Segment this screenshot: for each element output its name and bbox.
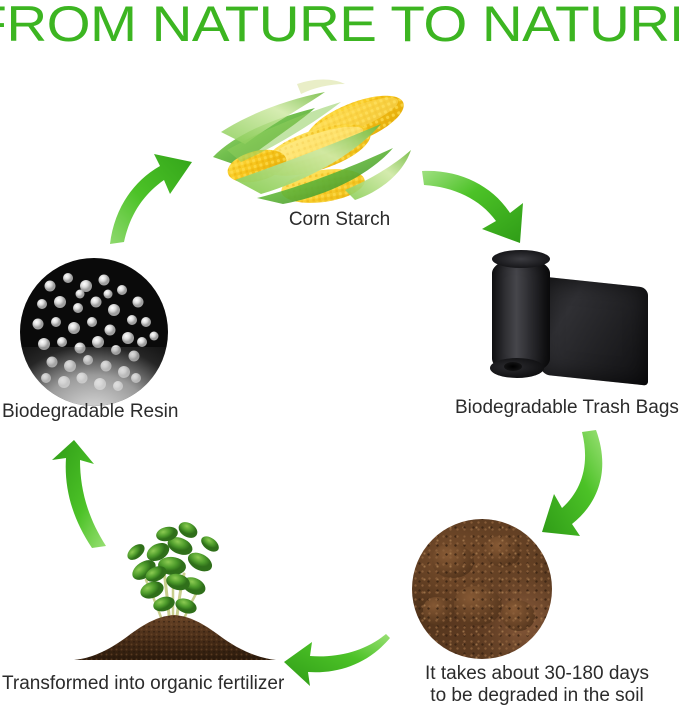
label-degrading-line1: It takes about 30-180 days [395,662,679,686]
label-trash-bags: Biodegradable Trash Bags [455,396,679,420]
curved-arrow-icon [108,152,203,247]
bag-unrolled-sheet [540,276,648,385]
label-biodegradable-resin: Biodegradable Resin [2,400,178,424]
bag-roll-top [492,250,550,268]
curved-arrow-icon [282,634,392,688]
label-organic-fertilizer: Transformed into organic fertilizer [2,672,284,696]
corn-cobs-image [205,62,420,207]
resin-pellets-image [20,258,168,406]
arrow-soil-to-fertilizer [282,634,392,688]
corn-illustration-icon [205,62,420,207]
curved-arrow-icon [420,155,530,247]
curved-arrow-icon [22,440,110,552]
trash-bag-roll-image [482,256,652,384]
page-title: FROM NATURE TO NATURE [0,0,679,50]
label-degrading-line2: to be degraded in the soil [395,684,679,708]
bag-roll-body [492,258,550,374]
label-corn-starch: Corn Starch [0,208,679,232]
arrow-fertilizer-to-resin [22,440,110,552]
arrow-corn-to-bags [420,155,530,247]
bag-roll-core [504,362,522,371]
soil-circle-image [412,519,552,659]
arrow-resin-to-corn [108,152,203,247]
infographic-canvas: FROM NATURE TO NATURE [0,0,679,712]
soil-grain-texture [412,519,552,659]
resin-pile-highlight [20,347,168,406]
